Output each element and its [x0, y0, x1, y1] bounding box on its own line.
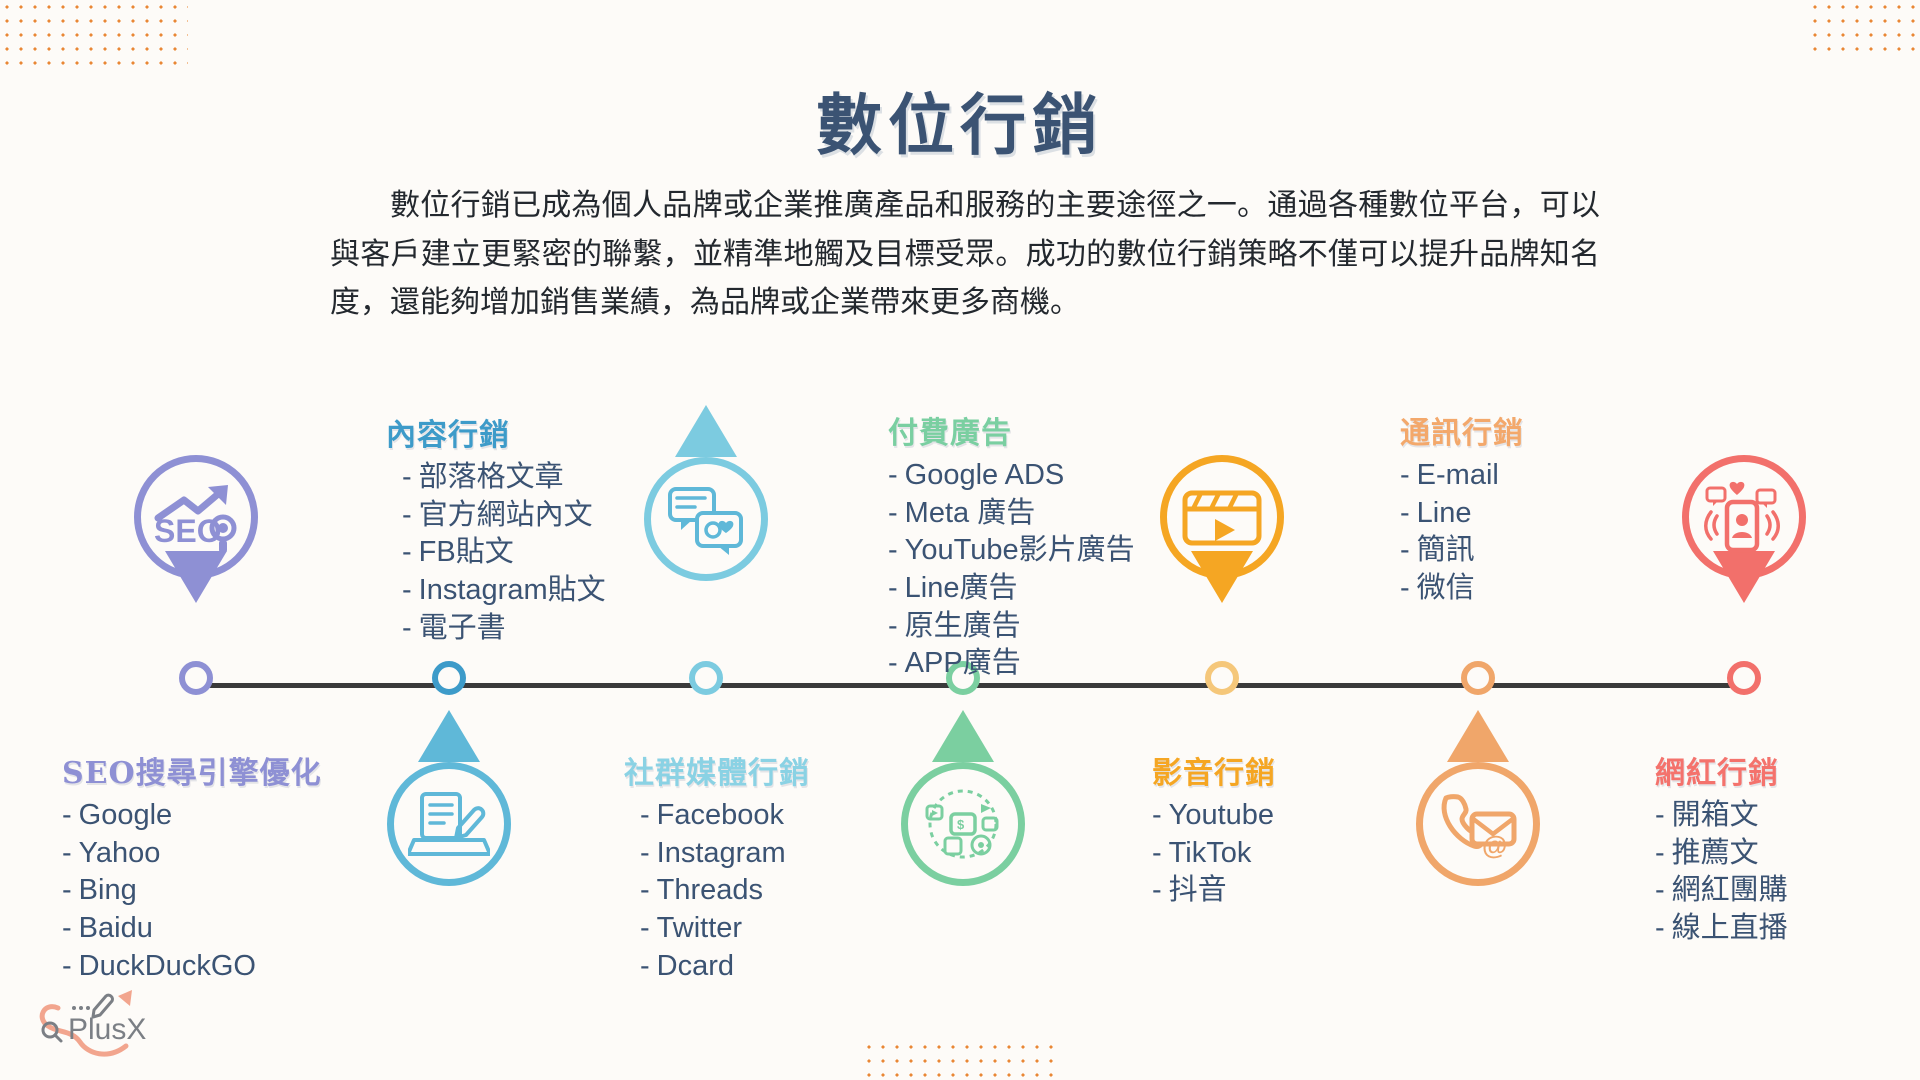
list-item: -Threads [640, 872, 810, 910]
timeline-node-social[interactable] [689, 661, 723, 695]
list-item: -Youtube [1152, 797, 1276, 835]
list-item: -開箱文 [1655, 797, 1788, 835]
block-influencer: 網紅行銷 -開箱文 -推薦文 -網紅團購 -線上直播 [1655, 748, 1788, 948]
svg-text:@: @ [1482, 830, 1507, 860]
list-social: -Facebook -Instagram -Threads -Twitter -… [610, 797, 810, 985]
heading-messaging: 通訊行銷 [1400, 408, 1524, 452]
list-item: -E-mail [1400, 457, 1524, 495]
timeline-node-seo[interactable] [179, 661, 213, 695]
block-social: 社群媒體行銷 -Facebook -Instagram -Threads -Tw… [610, 748, 810, 985]
mobile-live-icon [1682, 455, 1806, 579]
timeline-node-content[interactable] [432, 661, 466, 695]
list-item: -電子書 [402, 610, 606, 648]
list-content: -部落格文章 -官方網站內文 -FB貼文 -Instagram貼文 -電子書 [372, 459, 606, 647]
marker-pin-seo[interactable]: SEO [134, 455, 258, 579]
list-item: -Line廣告 [888, 570, 1135, 608]
list-video: -Youtube -TikTok -抖音 [1152, 797, 1276, 910]
heading-paid-ads: 付費廣告 [888, 408, 1135, 452]
list-paid-ads: -Google ADS -Meta 廣告 -YouTube影片廣告 -Line廣… [888, 457, 1135, 683]
list-item: -Instagram貼文 [402, 572, 606, 610]
drop-tail [418, 710, 480, 762]
heading-influencer: 網紅行銷 [1655, 748, 1788, 792]
dot-pattern-top-left [0, 0, 188, 68]
list-item: -Dcard [640, 948, 810, 986]
plusx-logo[interactable]: PlusX [22, 986, 162, 1072]
heading-content: 內容行銷 [372, 410, 606, 454]
list-item: -微信 [1400, 570, 1524, 608]
list-item: -線上直播 [1655, 910, 1788, 948]
heading-video: 影音行銷 [1152, 748, 1276, 792]
ads-megaphone-icon: $ [901, 762, 1025, 886]
list-item: -抖音 [1152, 872, 1276, 910]
list-influencer: -開箱文 -推薦文 -網紅團購 -線上直播 [1655, 797, 1788, 948]
list-item: -Google ADS [888, 457, 1135, 495]
marker-pin-influencer[interactable] [1682, 455, 1806, 579]
list-item: -部落格文章 [402, 459, 606, 497]
marker-drop-content[interactable] [644, 405, 768, 529]
block-paid-ads: 付費廣告 -Google ADS -Meta 廣告 -YouTube影片廣告 -… [888, 408, 1135, 683]
drop-tail [675, 405, 737, 457]
list-item: -推薦文 [1655, 835, 1788, 873]
marker-drop-paid-ads[interactable]: $ [901, 710, 1025, 834]
list-item: -Baidu [62, 910, 322, 948]
marker-pin-video[interactable] [1160, 455, 1284, 579]
list-item: -Yahoo [62, 835, 322, 873]
heading-social: 社群媒體行銷 [610, 748, 810, 792]
list-item: -DuckDuckGO [62, 948, 322, 986]
block-messaging: 通訊行銷 -E-mail -Line -簡訊 -微信 [1400, 408, 1524, 608]
list-item: -Bing [62, 872, 322, 910]
heading-seo: SEO搜尋引擎優化 [62, 748, 322, 792]
marker-drop-social[interactable] [387, 710, 511, 834]
list-item: -Facebook [640, 797, 810, 835]
dot-pattern-bottom [862, 1040, 1058, 1080]
video-play-icon [1160, 455, 1284, 579]
block-content: 內容行銷 -部落格文章 -官方網站內文 -FB貼文 -Instagram貼文 -… [372, 410, 606, 647]
page-title: 數位行銷 [0, 72, 1920, 168]
chat-bubbles-icon [644, 457, 768, 581]
list-item: -原生廣告 [888, 608, 1135, 646]
list-item: -Google [62, 797, 322, 835]
marker-drop-messaging[interactable]: @ [1416, 710, 1540, 834]
list-item: -YouTube影片廣告 [888, 532, 1135, 570]
timeline-node-video[interactable] [1205, 661, 1239, 695]
list-item: -Twitter [640, 910, 810, 948]
svg-text:$: $ [957, 817, 965, 832]
list-item: -FB貼文 [402, 534, 606, 572]
list-item: -簡訊 [1400, 532, 1524, 570]
list-item: -Instagram [640, 835, 810, 873]
block-video: 影音行銷 -Youtube -TikTok -抖音 [1152, 748, 1276, 910]
laptop-writing-icon [387, 762, 511, 886]
infographic-canvas: 數位行銷 數位行銷已成為個人品牌或企業推廣產品和服務的主要途徑之一。通過各種數位… [0, 0, 1920, 1080]
list-item: -TikTok [1152, 835, 1276, 873]
list-item: -APP廣告 [888, 645, 1135, 683]
list-item: -網紅團購 [1655, 872, 1788, 910]
phone-envelope-icon: @ [1416, 762, 1540, 886]
list-item: -Line [1400, 495, 1524, 533]
list-seo: -Google -Yahoo -Bing -Baidu -DuckDuckGO [62, 797, 322, 985]
timeline-node-messaging[interactable] [1461, 661, 1495, 695]
logo-text: PlusX [68, 1013, 146, 1047]
dot-pattern-top-right [1808, 0, 1920, 56]
intro-paragraph: 數位行銷已成為個人品牌或企業推廣產品和服務的主要途徑之一。通過各種數位平台，可以… [330, 182, 1600, 328]
list-item: -Meta 廣告 [888, 495, 1135, 533]
seo-growth-icon: SEO [134, 455, 258, 579]
list-item: -官方網站內文 [402, 497, 606, 535]
list-messaging: -E-mail -Line -簡訊 -微信 [1400, 457, 1524, 608]
drop-tail [932, 710, 994, 762]
timeline-node-influencer[interactable] [1727, 661, 1761, 695]
block-seo: SEO搜尋引擎優化 -Google -Yahoo -Bing -Baidu -D… [62, 748, 322, 985]
drop-tail [1447, 710, 1509, 762]
